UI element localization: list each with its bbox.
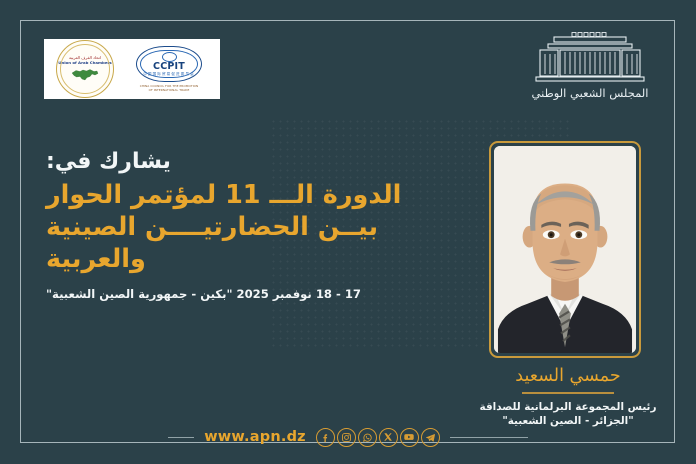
instagram-icon[interactable] [337,428,356,447]
ccpit-subtitle-line2: OF INTERNATIONAL TRADE [132,89,206,93]
partner-logos-card: CCPIT 中国国际贸易促进委员会 CHINA COUNCIL FOR THE … [44,39,220,99]
headline-line-2: بيــن الحضارتيــــن الصينية [46,212,450,244]
ccpit-acronym: CCPIT [153,62,185,72]
telegram-icon[interactable] [421,428,440,447]
instagram-glyph [341,432,352,443]
person-divider [522,392,614,394]
footer-divider-left [168,437,194,438]
telegram-glyph [425,432,436,443]
headline-block: يشارك في: الدورة الـــ 11 لمؤتمر الحوار … [46,150,450,302]
portrait-photo [494,146,636,353]
x-twitter-icon[interactable] [379,428,398,447]
youtube-icon[interactable] [400,428,419,447]
ccpit-chinese-text: 中国国际贸易促进委员会 [143,73,195,77]
footer-divider-right [450,437,528,438]
headline-line-3: والعربية [46,244,450,276]
announcement-poster: CCPIT 中国国际贸易促进委员会 CHINA COUNCIL FOR THE … [0,0,696,464]
facebook-glyph [320,432,331,443]
event-date-location: 17 - 18 نوفمبر 2025 "بكين - جمهورية الصي… [46,288,450,302]
whatsapp-icon[interactable] [358,428,377,447]
parliament-building-icon [532,32,648,86]
portrait-frame [489,141,641,358]
person-photo-illustration [494,146,636,353]
footer-bar: www.apn.dz [0,424,696,450]
ccpit-badge-icon: CCPIT 中国国际贸易促进委员会 [136,46,202,82]
arab-world-map-icon [70,67,100,82]
uac-english-name: Union of Arab Chambers [58,61,111,65]
website-url[interactable]: www.apn.dz [204,429,306,445]
whatsapp-glyph [362,432,373,443]
uac-arabic-name: اتحاد الغرف العربية [69,56,101,60]
headline-kicker: يشارك في: [46,150,450,174]
union-of-arab-chambers-logo: اتحاد الغرف العربية Union of Arab Chambe… [56,40,114,98]
apn-parliament-emblem: المجلس الشعبي الوطني [528,32,652,104]
social-links [316,428,440,447]
apn-emblem-label: المجلس الشعبي الوطني [532,88,649,100]
globe-icon [162,52,177,62]
person-role-line-1: رئيس المجموعة البرلمانية للصداقة [470,400,666,415]
person-info: حمسي السعيد رئيس المجموعة البرلمانية للص… [470,366,666,429]
ccpit-logo: CCPIT 中国国际贸易促进委员会 CHINA COUNCIL FOR THE … [130,42,208,96]
youtube-glyph [403,431,415,443]
x-glyph [383,432,393,442]
person-name: حمسي السعيد [470,366,666,386]
facebook-icon[interactable] [316,428,335,447]
headline-line-1: الدورة الـــ 11 لمؤتمر الحوار [46,180,450,212]
